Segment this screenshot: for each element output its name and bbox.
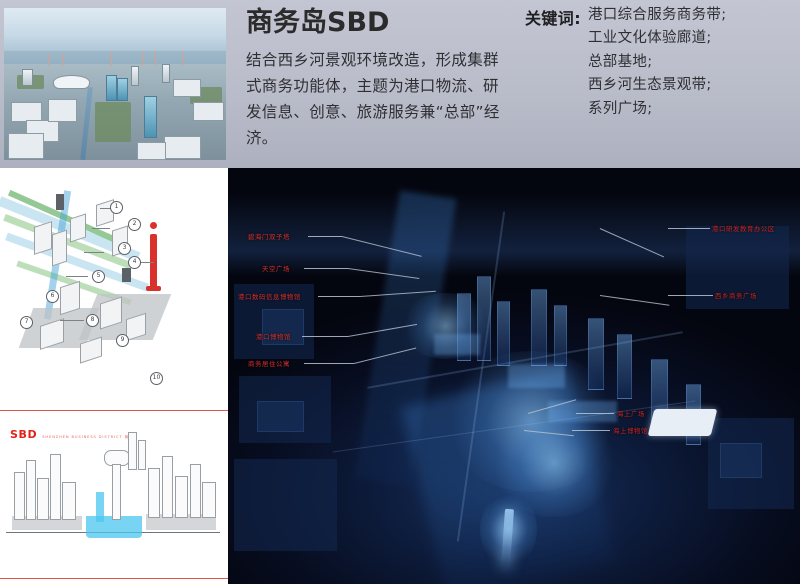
keyword-item: 系列广场; <box>588 98 726 121</box>
dark-massing <box>122 268 131 282</box>
office-tower <box>162 64 171 83</box>
leader-line <box>668 228 710 229</box>
callout-number: 10 <box>150 372 163 385</box>
tower <box>588 318 604 391</box>
port-crane-icon <box>62 54 63 66</box>
section-building <box>62 482 76 520</box>
city-block <box>234 459 337 551</box>
leader-line <box>304 363 354 364</box>
port-crane-icon <box>182 52 183 66</box>
axonometric-diagram: 1 2 3 4 5 6 7 8 9 10 <box>0 172 226 404</box>
label-port-rd-education-zone: 港口研发教育办公区 <box>712 224 775 233</box>
massing-block <box>34 221 52 255</box>
keyword-item: 工业文化体验廊道; <box>588 27 726 50</box>
keywords-label: 关键词: <box>525 4 581 29</box>
sbd-logo-mark: SBD <box>10 428 37 441</box>
sea-museum-building <box>648 409 718 436</box>
dark-massing <box>56 194 64 210</box>
dome-building <box>53 75 91 89</box>
section-building <box>190 464 201 518</box>
callout-number: 7 <box>20 316 33 329</box>
label-business-apartments: 商务居住公寓 <box>248 359 290 368</box>
city-block <box>193 102 224 121</box>
port-crane-icon <box>142 51 143 66</box>
tower <box>617 334 632 398</box>
port-crane-icon <box>48 54 49 66</box>
leader-line <box>318 296 360 297</box>
keyword-item: 西乡河生态景观带; <box>588 74 726 97</box>
keywords-list: 港口综合服务商务带; 工业文化体验廊道; 总部基地; 西乡河生态景观带; 系列广… <box>588 4 726 121</box>
city-block <box>257 401 305 432</box>
callout-number: 4 <box>128 256 141 269</box>
page-title-en: SBD <box>327 7 389 38</box>
page-title: 商务岛SBD <box>246 8 504 38</box>
section-building <box>138 440 146 470</box>
callout-leader <box>92 228 110 229</box>
title-panel: 商务岛SBD 结合西乡河景观环境改造，形成集群式商务功能体，主题为港口物流、研发… <box>246 2 504 166</box>
sbd-logo: SBD SHENZHEN BUSINESS DISTRICT 商务岛 <box>10 428 138 441</box>
section-drawing: SBD SHENZHEN BUSINESS DISTRICT 商务岛 <box>0 420 226 578</box>
city-block <box>137 142 166 160</box>
night-aerial-render: 碧海门双子塔 天空广场 港口数码信息博物馆 港口博物馆 商务居住公寓 港口研发教… <box>228 168 800 584</box>
section-building <box>37 478 49 520</box>
keywords-panel: 关键词: 港口综合服务商务带; 工业文化体验廊道; 总部基地; 西乡河生态景观带… <box>525 4 795 166</box>
lit-block <box>508 364 565 389</box>
callout-leader <box>60 320 84 321</box>
beam-glow <box>480 492 537 567</box>
callout-number: 9 <box>116 334 129 347</box>
label-port-museum: 港口博物馆 <box>256 332 291 341</box>
leader-line <box>668 295 713 296</box>
glass-tower <box>117 78 128 101</box>
section-building <box>14 472 25 520</box>
callout-number: 3 <box>118 242 131 255</box>
section-building <box>162 456 173 518</box>
massing-block <box>52 230 67 267</box>
glass-tower <box>144 96 157 138</box>
keyword-item: 总部基地; <box>588 51 726 74</box>
city-block <box>173 79 202 96</box>
section-divider <box>0 410 228 411</box>
glass-tower <box>106 75 117 101</box>
bottom-divider <box>0 578 228 579</box>
callout-leader <box>84 252 104 253</box>
page-title-cn: 商务岛 <box>246 7 327 38</box>
aerial-day-image <box>4 8 226 160</box>
port-crane-icon <box>111 52 112 66</box>
label-sky-plaza: 天空广场 <box>262 264 290 273</box>
leader-line <box>302 336 348 337</box>
callout-number: 8 <box>86 314 99 327</box>
label-sea-plaza: 海上广场 <box>617 409 645 418</box>
tower <box>497 301 510 365</box>
section-building <box>148 468 160 518</box>
tower <box>554 305 567 365</box>
section-building <box>202 482 216 518</box>
label-port-digital-museum: 港口数码信息博物馆 <box>238 292 301 301</box>
office-tower <box>131 66 140 86</box>
green-space <box>95 102 131 142</box>
landmark-marker <box>150 222 157 229</box>
landmark-marker <box>146 286 161 291</box>
slide-page: 商务岛SBD 结合西乡河景观环境改造，形成集群式商务功能体，主题为港口物流、研发… <box>0 0 800 584</box>
sky-region <box>4 8 226 54</box>
office-tower <box>22 69 33 86</box>
callout-leader <box>66 276 88 277</box>
leader-line <box>308 236 342 237</box>
project-description: 结合西乡河景观环境改造，形成集群式商务功能体，主题为港口物流、研发信息、创意、旅… <box>246 47 504 151</box>
label-xixiang-business-plaza: 西乡商务广场 <box>715 291 757 300</box>
water-body <box>96 492 104 522</box>
lit-block <box>434 334 480 355</box>
port-crane-icon <box>155 51 156 66</box>
section-building <box>50 454 61 520</box>
section-building <box>112 464 121 520</box>
leader-line <box>576 413 614 414</box>
city-block <box>48 99 77 122</box>
city-block <box>164 136 202 159</box>
section-building <box>175 476 188 518</box>
city-block <box>8 133 43 159</box>
section-building <box>128 432 137 470</box>
top-header-band: 商务岛SBD 结合西乡河景观环境改造，形成集群式商务功能体，主题为港口物流、研发… <box>0 0 800 168</box>
callout-number: 6 <box>46 290 59 303</box>
landmark-tower <box>150 234 157 288</box>
section-building <box>26 460 36 520</box>
city-block <box>720 443 762 478</box>
label-bihai-twin-towers: 碧海门双子塔 <box>248 232 290 241</box>
leader-line <box>304 268 348 269</box>
tower <box>531 289 547 366</box>
city-block <box>11 102 42 122</box>
callout-number: 2 <box>128 218 141 231</box>
callout-number: 5 <box>92 270 105 283</box>
label-sea-museum: 海上博物馆 <box>613 426 648 435</box>
leader-line <box>572 430 610 431</box>
callout-number: 1 <box>110 201 123 214</box>
sbd-logo-subtitle: SHENZHEN BUSINESS DISTRICT 商务岛 <box>42 435 138 440</box>
keyword-item: 港口综合服务商务带; <box>588 4 726 27</box>
